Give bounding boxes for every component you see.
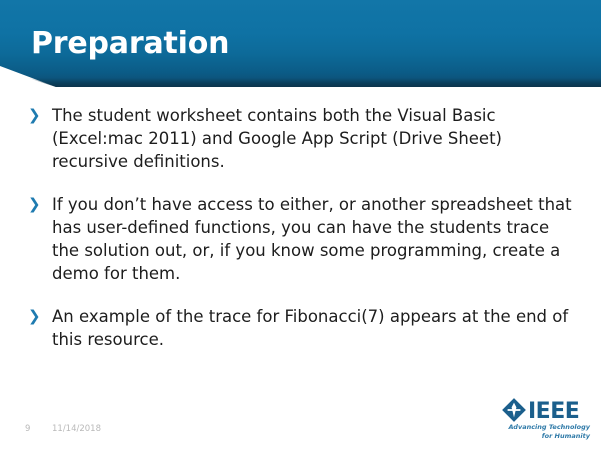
list-item: ❯ An example of the trace for Fibonacci(… (28, 305, 573, 351)
ieee-tagline-line2: for Humanity (502, 432, 590, 441)
presentation-slide: Preparation ❯ The student worksheet cont… (0, 0, 601, 451)
bullet-text: If you don’t have access to either, or a… (52, 193, 573, 285)
chevron-right-icon: ❯ (28, 193, 52, 212)
slide-body: ❯ The student worksheet contains both th… (28, 104, 573, 351)
page-title: Preparation (31, 26, 229, 61)
bullet-text: The student worksheet contains both the … (52, 104, 573, 173)
slide-number: 9 (25, 424, 30, 434)
list-item: ❯ The student worksheet contains both th… (28, 104, 573, 173)
ieee-tagline-line1: Advancing Technology (502, 423, 590, 432)
bullet-text: An example of the trace for Fibonacci(7)… (52, 305, 573, 351)
chevron-right-icon: ❯ (28, 104, 52, 123)
slide-date: 11/14/2018 (52, 424, 101, 434)
ieee-tagline: Advancing Technology for Humanity (502, 423, 590, 440)
ieee-wordmark: IEEE (528, 401, 579, 423)
ieee-logo: IEEE Advancing Technology for Humanity (502, 398, 590, 440)
chevron-right-icon: ❯ (28, 305, 52, 324)
list-item: ❯ If you don’t have access to either, or… (28, 193, 573, 285)
ieee-diamond-icon (502, 398, 526, 426)
ieee-mark: IEEE (502, 398, 579, 426)
